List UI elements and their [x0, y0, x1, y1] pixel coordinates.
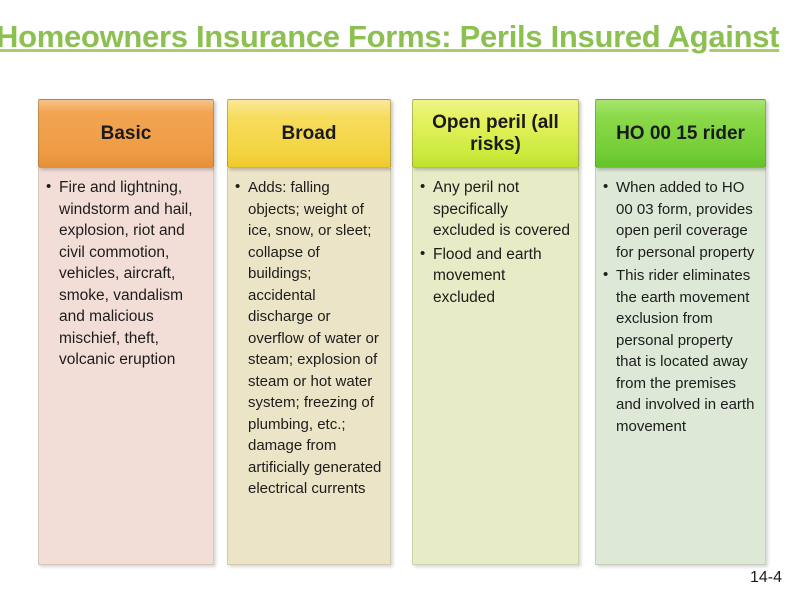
column-header-open-peril: Open peril (all risks) — [412, 99, 579, 168]
bullet-list-ho-00-15-rider: When added to HO 00 03 form, provides op… — [602, 177, 757, 437]
column-header-broad: Broad — [227, 99, 391, 168]
list-item: Flood and earth movement excluded — [419, 244, 570, 309]
slide-title: Homeowners Insurance Forms: Perils Insur… — [0, 18, 796, 56]
column-body-basic: Fire and lightning, windstorm and hail, … — [38, 168, 214, 565]
column-body-broad: Adds: falling objects; weight of ice, sn… — [227, 168, 391, 565]
list-item: This rider eliminates the earth movement… — [602, 265, 757, 437]
bullet-list-broad: Adds: falling objects; weight of ice, sn… — [234, 177, 382, 500]
list-item: Adds: falling objects; weight of ice, sn… — [234, 177, 382, 500]
page-number: 14-4 — [750, 569, 782, 587]
column-ho-00-15-rider: HO 00 15 rider When added to HO 00 03 fo… — [595, 99, 766, 565]
bullet-list-basic: Fire and lightning, windstorm and hail, … — [45, 177, 205, 371]
column-header-ho-00-15-rider: HO 00 15 rider — [595, 99, 766, 168]
column-broad: Broad Adds: falling objects; weight of i… — [227, 99, 391, 565]
comparison-table: Basic Fire and lightning, windstorm and … — [0, 99, 800, 569]
column-body-open-peril: Any peril not specifically excluded is c… — [412, 168, 579, 565]
bullet-list-open-peril: Any peril not specifically excluded is c… — [419, 177, 570, 308]
column-basic: Basic Fire and lightning, windstorm and … — [38, 99, 214, 565]
column-header-basic: Basic — [38, 99, 214, 168]
list-item: Fire and lightning, windstorm and hail, … — [45, 177, 205, 371]
slide-canvas: Homeowners Insurance Forms: Perils Insur… — [0, 0, 800, 599]
list-item: Any peril not specifically excluded is c… — [419, 177, 570, 242]
column-body-ho-00-15-rider: When added to HO 00 03 form, provides op… — [595, 168, 766, 565]
column-open-peril: Open peril (all risks) Any peril not spe… — [412, 99, 579, 565]
list-item: When added to HO 00 03 form, provides op… — [602, 177, 757, 263]
